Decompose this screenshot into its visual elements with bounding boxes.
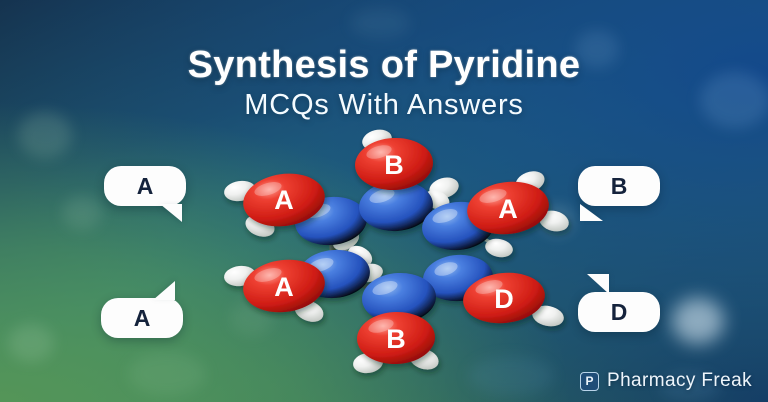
atom-label: A [274, 185, 294, 215]
bubble-tail-icon [153, 281, 175, 300]
poster-canvas: Synthesis of Pyridine MCQs With Answers [0, 0, 768, 402]
option-bubble-a-top-left[interactable]: A [104, 166, 186, 206]
bokeh-circle [128, 352, 206, 396]
option-label: A [137, 173, 154, 200]
molecule-illustration: B A A A B D [196, 126, 586, 376]
option-bubble-d-bottom-right[interactable]: D [578, 292, 660, 332]
option-bubble-a-bottom-left[interactable]: A [101, 298, 183, 338]
bubble-tail-icon [587, 274, 609, 294]
watermark: P Pharmacy Freak [580, 370, 752, 392]
title-block: Synthesis of Pyridine MCQs With Answers [0, 46, 768, 120]
bokeh-circle [350, 8, 410, 38]
atom-label: D [494, 284, 514, 314]
bokeh-circle [8, 324, 54, 362]
brand-logo-letter: P [586, 375, 594, 387]
option-label: D [611, 299, 628, 326]
atom-label: A [498, 194, 518, 224]
page-title: Synthesis of Pyridine [0, 46, 768, 84]
option-bubble-b-top-right[interactable]: B [578, 166, 660, 206]
bubble-tail-icon [580, 204, 603, 221]
bubble-tail-icon [160, 204, 182, 222]
atom-label: A [274, 272, 294, 302]
brand-name: Pharmacy Freak [607, 370, 752, 392]
atom-label: B [384, 150, 404, 180]
brand-logo-icon: P [580, 372, 599, 391]
atom-label: B [386, 324, 406, 354]
bokeh-circle [672, 298, 724, 344]
page-subtitle: MCQs With Answers [0, 91, 768, 120]
bokeh-circle [62, 196, 102, 230]
option-label: A [134, 305, 151, 332]
option-label: B [611, 173, 628, 200]
